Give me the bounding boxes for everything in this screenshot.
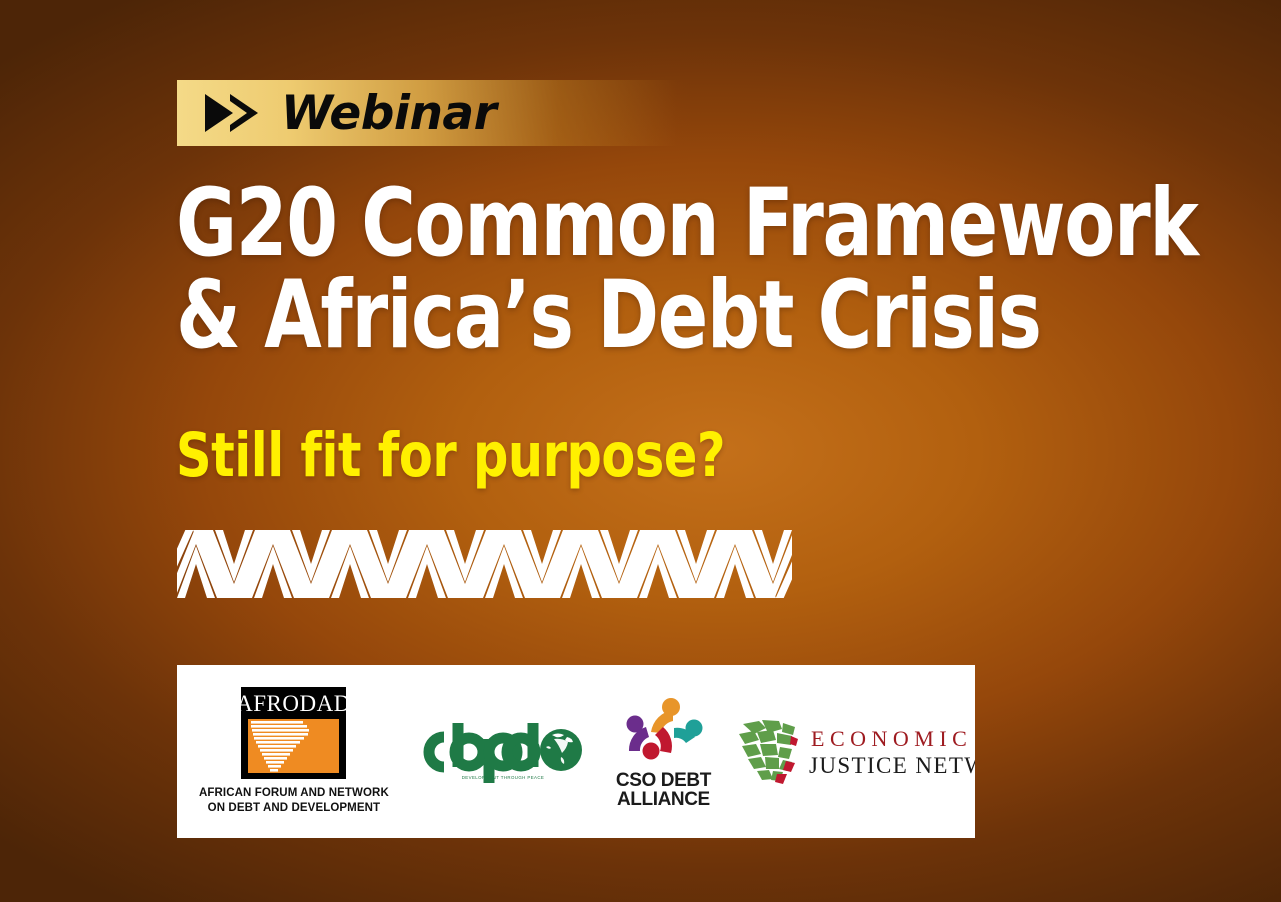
afrodad-tagline-line-1: AFRICAN FORUM AND NETWORK <box>199 786 389 801</box>
afrodad-tagline-line-2: ON DEBT AND DEVELOPMENT <box>199 801 389 816</box>
svg-text:AFRODAD: AFRODAD <box>241 691 346 716</box>
webinar-label: Webinar <box>281 86 496 141</box>
subtitle: Still fit for purpose? <box>176 420 725 491</box>
fast-forward-icon <box>203 92 261 134</box>
partner-logo-panel: AFRODAD <box>177 665 975 838</box>
title-line-2: & Africa’s Debt Crisis <box>176 270 1056 362</box>
cso-wordmark: CSO DEBT ALLIANCE <box>616 772 711 809</box>
logo-cso-debt-alliance: CSO DEBT ALLIANCE <box>610 694 717 809</box>
logo-ctpd: DEVELOPMENT THROUGH PEACE <box>411 717 586 787</box>
webinar-poster: Webinar G20 Common Framework & Africa’s … <box>0 0 1281 902</box>
cso-wordmark-line-1: CSO DEBT <box>616 772 711 791</box>
cso-wordmark-line-2: ALLIANCE <box>616 791 711 810</box>
webinar-banner: Webinar <box>177 80 692 146</box>
ejn-mark-icon: ECONOMIC JUSTICE NETWORK <box>729 714 975 790</box>
ctpd-mark-icon: DEVELOPMENT THROUGH PEACE <box>411 717 586 787</box>
logo-economic-justice-network: ECONOMIC JUSTICE NETWORK <box>729 714 975 790</box>
cso-people-icon <box>611 694 715 768</box>
african-chevron-band <box>177 530 792 598</box>
afrodad-tagline: AFRICAN FORUM AND NETWORK ON DEBT AND DE… <box>199 786 389 815</box>
ctpd-subtext: DEVELOPMENT THROUGH PEACE <box>462 775 545 780</box>
title-line-1: G20 Common Framework <box>176 178 1056 270</box>
ejn-line-1: ECONOMIC <box>811 726 972 751</box>
ejn-line-2: JUSTICE NETWORK <box>809 753 975 778</box>
logo-afrodad: AFRODAD <box>195 687 393 815</box>
afrodad-mark-icon: AFRODAD <box>241 687 346 779</box>
page-title: G20 Common Framework & Africa’s Debt Cri… <box>176 178 1176 362</box>
